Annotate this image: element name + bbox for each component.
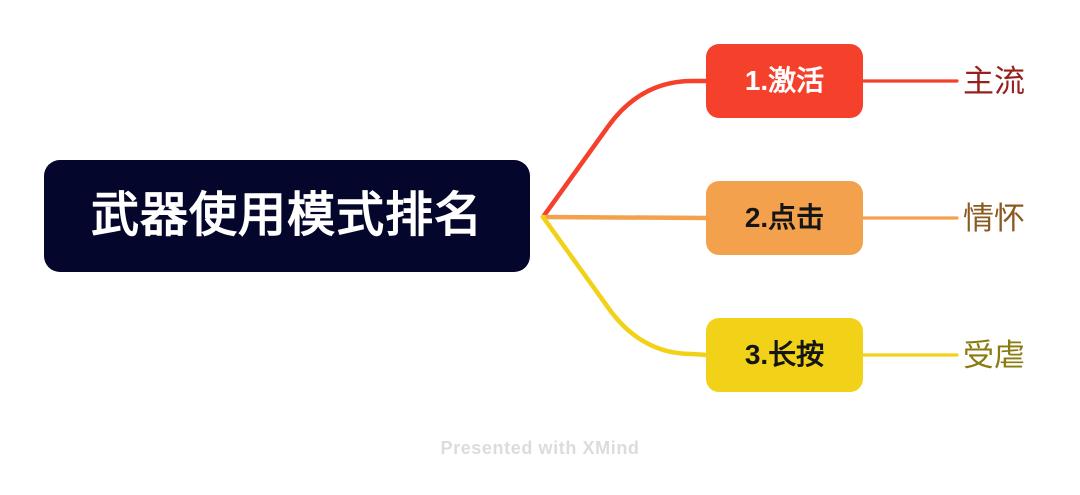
branch-node-label: 3.长按 — [745, 341, 824, 369]
connector-root-to-branch-3 — [543, 217, 707, 355]
connector-root-to-branch-2 — [543, 217, 707, 218]
leaf-node-mainstream[interactable]: 主流 — [963, 66, 1025, 97]
branch-node-label: 2.点击 — [745, 204, 824, 232]
branch-node-activate[interactable]: 1.激活 — [706, 44, 863, 118]
branch-node-label: 1.激活 — [745, 67, 824, 95]
connector-root-to-branch-1 — [543, 81, 707, 217]
branch-node-click[interactable]: 2.点击 — [706, 181, 863, 255]
branch-node-longpress[interactable]: 3.长按 — [706, 318, 863, 392]
root-node-label: 武器使用模式排名 — [91, 192, 483, 240]
leaf-node-masochism[interactable]: 受虐 — [963, 340, 1025, 371]
root-node[interactable]: 武器使用模式排名 — [44, 160, 530, 272]
xmind-watermark: Presented with XMind — [0, 438, 1080, 459]
mindmap-canvas: 武器使用模式排名 1.激活 2.点击 3.长按 主流 情怀 受虐 Present… — [0, 0, 1080, 495]
leaf-node-nostalgia[interactable]: 情怀 — [963, 203, 1025, 234]
